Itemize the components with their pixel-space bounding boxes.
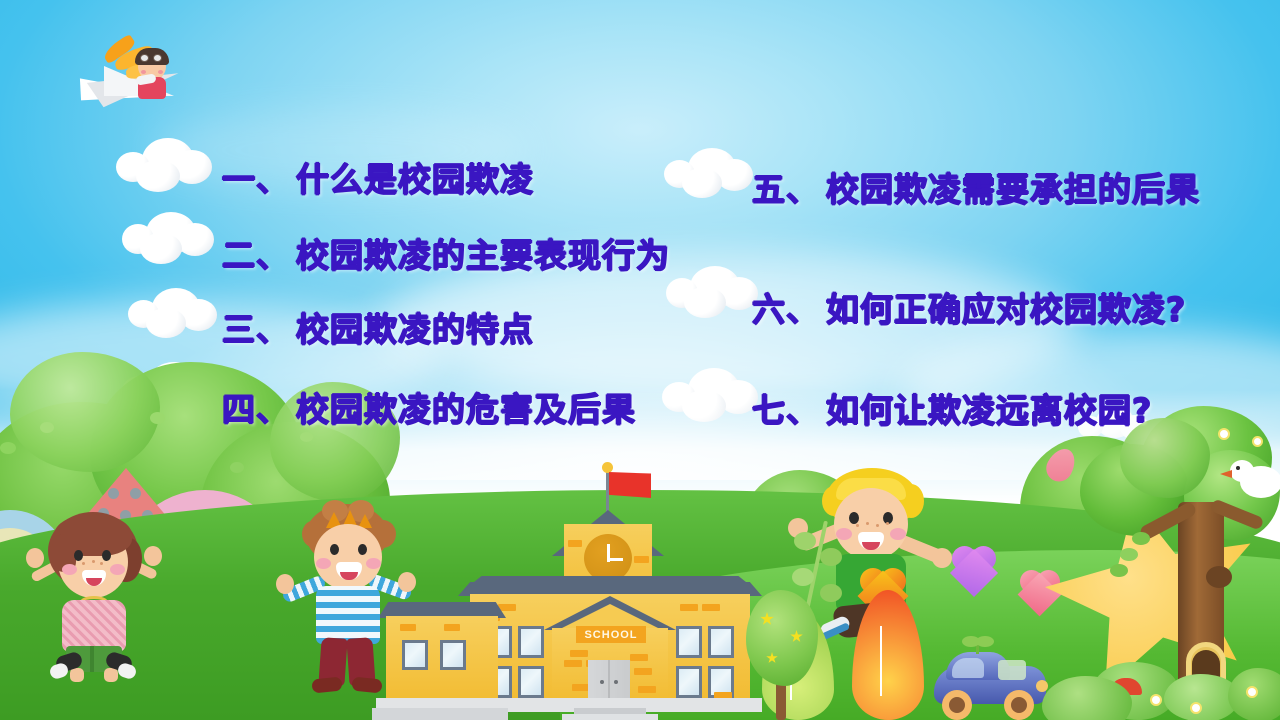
toc-label-6: 如何正确应对校园欺凌? <box>826 283 1186 331</box>
toc-index-3: 三、 <box>222 303 290 351</box>
toc-item-4[interactable]: 四、 校园欺凌的危害及后果 <box>222 383 636 431</box>
toc-label-3: 校园欺凌的特点 <box>296 303 534 351</box>
toc-item-7[interactable]: 七、 如何让欺凌远离校园? <box>752 384 1152 432</box>
toc-label-7: 如何让欺凌远离校园? <box>826 384 1152 432</box>
toc-index-7: 七、 <box>752 384 820 432</box>
toc-label-2: 校园欺凌的主要表现行为 <box>296 229 670 277</box>
toc-index-2: 二、 <box>222 229 290 277</box>
toc-item-6[interactable]: 六、 如何正确应对校园欺凌? <box>752 283 1186 331</box>
toc-label-4: 校园欺凌的危害及后果 <box>296 383 636 431</box>
toc-label-1: 什么是校园欺凌 <box>296 153 534 201</box>
toc-index-1: 一、 <box>222 153 290 201</box>
presentation-slide: SCHOOL <box>0 0 1280 720</box>
toc-label-5: 校园欺凌需要承担的后果 <box>826 163 1200 211</box>
toc-index-4: 四、 <box>222 383 290 431</box>
toc-index-6: 六、 <box>752 283 820 331</box>
toc-item-3[interactable]: 三、 校园欺凌的特点 <box>222 303 534 351</box>
toc-item-1[interactable]: 一、 什么是校园欺凌 <box>222 153 534 201</box>
toc-item-5[interactable]: 五、 校园欺凌需要承担的后果 <box>752 163 1200 211</box>
toc-item-2[interactable]: 二、 校园欺凌的主要表现行为 <box>222 229 670 277</box>
toc-index-5: 五、 <box>752 163 820 211</box>
table-of-contents: 一、 什么是校园欺凌 二、 校园欺凌的主要表现行为 三、 校园欺凌的特点 四、 … <box>0 0 1280 720</box>
